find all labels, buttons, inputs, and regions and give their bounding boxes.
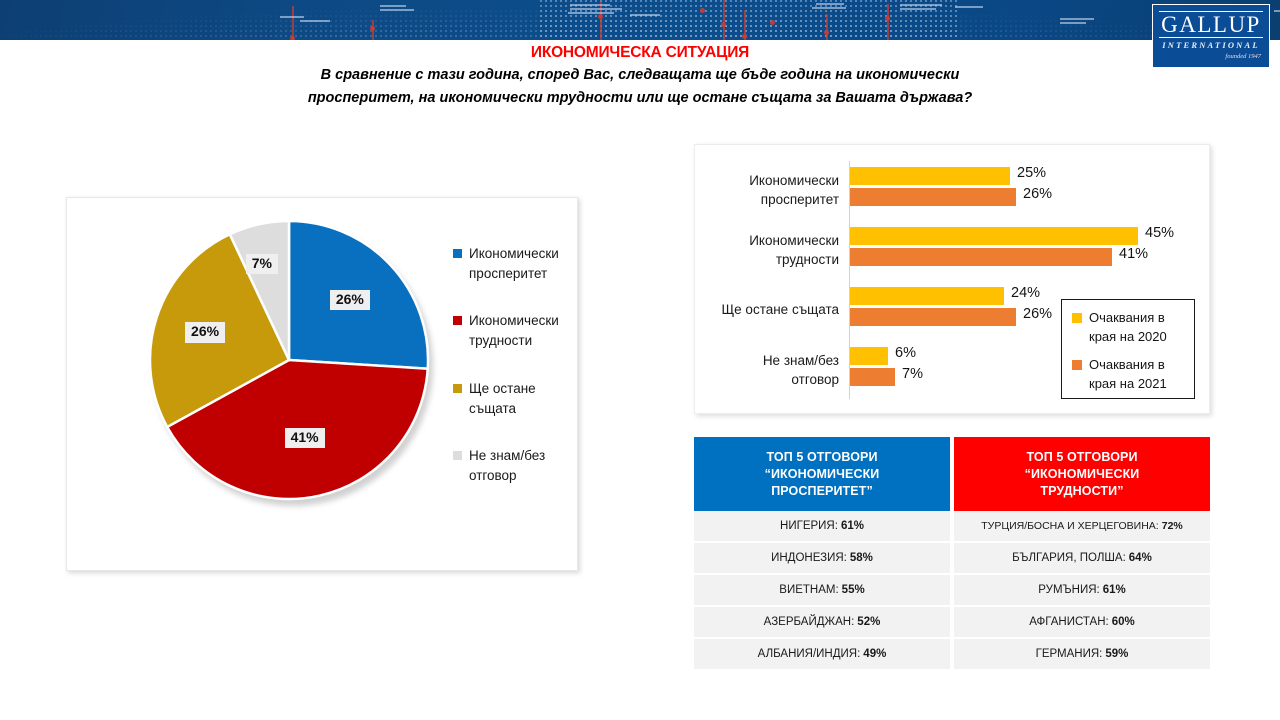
bar-rect-2021 bbox=[850, 188, 1016, 206]
page-subtitle-line2: просперитет, на икономически трудности и… bbox=[200, 87, 1080, 110]
country-name: АФГАНИСТАН: bbox=[1029, 616, 1108, 628]
bar-value-2021: 7% bbox=[902, 366, 923, 382]
bar-value-2021: 26% bbox=[1023, 306, 1052, 322]
pie-chart: 26% 41% 26% 7% bbox=[149, 220, 435, 506]
bar-group-prosperity: Икономически просперитет 25% 26% bbox=[695, 167, 1211, 217]
bar-row-2021-same: 26% bbox=[850, 308, 1016, 326]
bar-value-2020: 45% bbox=[1145, 225, 1174, 241]
bar-group-difficulties: Икономически трудности 45% 41% bbox=[695, 227, 1211, 277]
pie-svg bbox=[149, 220, 429, 500]
country-value: 72% bbox=[1162, 520, 1183, 532]
bar-legend-item-2021: Очаквания в края на 2021 bbox=[1072, 356, 1186, 394]
bar-value-2020: 25% bbox=[1017, 165, 1046, 181]
bar-value-2021: 26% bbox=[1023, 186, 1052, 202]
bar-category-line1: Не знам/без bbox=[699, 351, 839, 370]
table-row: ВИЕТНАМ:55% bbox=[694, 575, 950, 607]
bar-rect-2020 bbox=[850, 347, 888, 365]
legend-swatch-gold-icon bbox=[453, 384, 462, 393]
country-name: АЛБАНИЯ/ИНДИЯ: bbox=[758, 648, 861, 660]
legend-swatch-grey-icon bbox=[453, 451, 462, 460]
country-name: БЪЛГАРИЯ, ПОЛША: bbox=[1012, 552, 1126, 564]
top5-header-line3: ТРУДНОСТИ” bbox=[1040, 483, 1123, 500]
banner-network-lines bbox=[0, 0, 1280, 40]
bar-category-label-same: Ще остане същата bbox=[699, 300, 839, 319]
table-row: АФГАНИСТАН:60% bbox=[954, 607, 1210, 639]
pie-legend-label-dontknow: Не знам/без отговор bbox=[469, 446, 573, 485]
logo-wordmark: GALLUP bbox=[1159, 13, 1263, 36]
table-row: РУМЪНИЯ:61% bbox=[954, 575, 1210, 607]
table-row: ГЕРМАНИЯ:59% bbox=[954, 639, 1210, 671]
bar-row-2020-difficulties: 45% bbox=[850, 227, 1138, 245]
header-banner bbox=[0, 0, 1280, 40]
legend-swatch-red-icon bbox=[453, 316, 462, 325]
bar-category-label-prosperity: Икономически просперитет bbox=[699, 171, 839, 209]
bar-row-2020-prosperity: 25% bbox=[850, 167, 1010, 185]
page-subtitle: В сравнение с тази година, според Вас, с… bbox=[200, 64, 1080, 111]
top5-header-difficulties: ТОП 5 ОТГОВОРИ “ИКОНОМИЧЕСКИ ТРУДНОСТИ” bbox=[954, 437, 1210, 511]
country-value: 49% bbox=[863, 648, 886, 660]
bar-legend-label-2021: Очаквания в края на 2021 bbox=[1089, 356, 1186, 394]
pie-chart-panel: 26% 41% 26% 7% Икономически просперитет … bbox=[66, 197, 578, 571]
pie-slice-label-prosperity: 26% bbox=[330, 290, 370, 310]
pie-legend-label-same: Ще остане същата bbox=[469, 379, 573, 418]
bar-rect-2021 bbox=[850, 368, 895, 386]
country-value: 64% bbox=[1129, 552, 1152, 564]
country-name: РУМЪНИЯ: bbox=[1038, 584, 1099, 596]
legend-swatch-orange-icon bbox=[1072, 360, 1082, 370]
country-value: 59% bbox=[1105, 648, 1128, 660]
country-value: 61% bbox=[1103, 584, 1126, 596]
logo-rule-mid bbox=[1159, 37, 1263, 38]
table-row: АЗЕРБАЙДЖАН:52% bbox=[694, 607, 950, 639]
legend-swatch-yellow-icon bbox=[1072, 313, 1082, 323]
bar-legend-label-2020: Очаквания в края на 2020 bbox=[1089, 309, 1186, 347]
bar-chart-panel: Икономически просперитет 25% 26% Икономи… bbox=[694, 144, 1210, 414]
bar-value-2020: 6% bbox=[895, 345, 916, 361]
bar-row-2021-prosperity: 26% bbox=[850, 188, 1016, 206]
bar-value-2021: 41% bbox=[1119, 246, 1148, 262]
bar-legend-item-2020: Очаквания в края на 2020 bbox=[1072, 309, 1186, 347]
bar-row-2020-dontknow: 6% bbox=[850, 347, 888, 365]
country-name: ИНДОНЕЗИЯ: bbox=[771, 552, 847, 564]
top5-header-line2: “ИКОНОМИЧЕСКИ bbox=[765, 466, 880, 483]
bar-category-line2: отговор bbox=[699, 370, 839, 389]
country-value: 61% bbox=[841, 520, 864, 532]
page-subtitle-line1: В сравнение с тази година, според Вас, с… bbox=[200, 64, 1080, 87]
bar-category-line1: Ще остане същата bbox=[699, 300, 839, 319]
table-row: ТУРЦИЯ/БОСНА И ХЕРЦЕГОВИНА:72% bbox=[954, 511, 1210, 543]
bar-category-label-dontknow: Не знам/без отговор bbox=[699, 351, 839, 389]
pie-slice-label-dontknow: 7% bbox=[246, 254, 278, 274]
legend-swatch-blue-icon bbox=[453, 249, 462, 258]
bar-chart-legend: Очаквания в края на 2020 Очаквания в кра… bbox=[1061, 299, 1195, 399]
country-name: АЗЕРБАЙДЖАН: bbox=[764, 616, 855, 628]
pie-legend-item-prosperity: Икономически просперитет bbox=[453, 244, 573, 283]
pie-legend-item-same: Ще остане същата bbox=[453, 379, 573, 418]
table-row: НИГЕРИЯ:61% bbox=[694, 511, 950, 543]
country-name: ВИЕТНАМ: bbox=[779, 584, 838, 596]
top5-header-line1: ТОП 5 ОТГОВОРИ bbox=[1026, 449, 1137, 466]
country-name: НИГЕРИЯ: bbox=[780, 520, 838, 532]
table-row: БЪЛГАРИЯ, ПОЛША:64% bbox=[954, 543, 1210, 575]
pie-legend: Икономически просперитет Икономически тр… bbox=[453, 244, 573, 514]
top5-header-line3: ПРОСПЕРИТЕТ” bbox=[771, 483, 873, 500]
page-title: ИКОНОМИЧЕСКА СИТУАЦИЯ bbox=[0, 44, 1280, 62]
pie-slice-label-same: 26% bbox=[185, 322, 225, 342]
bar-value-2020: 24% bbox=[1011, 285, 1040, 301]
bar-category-line2: просперитет bbox=[699, 190, 839, 209]
bar-category-line1: Икономически bbox=[699, 231, 839, 250]
country-value: 55% bbox=[842, 584, 865, 596]
pie-slice-label-difficulties: 41% bbox=[285, 428, 325, 448]
table-row: ИНДОНЕЗИЯ:58% bbox=[694, 543, 950, 575]
bar-rect-2020 bbox=[850, 287, 1004, 305]
top5-tables: ТОП 5 ОТГОВОРИ “ИКОНОМИЧЕСКИ ПРОСПЕРИТЕТ… bbox=[694, 437, 1210, 671]
bar-row-2021-difficulties: 41% bbox=[850, 248, 1112, 266]
country-value: 52% bbox=[857, 616, 880, 628]
bar-row-2021-dontknow: 7% bbox=[850, 368, 895, 386]
top5-header-prosperity: ТОП 5 ОТГОВОРИ “ИКОНОМИЧЕСКИ ПРОСПЕРИТЕТ… bbox=[694, 437, 950, 511]
country-value: 60% bbox=[1112, 616, 1135, 628]
pie-legend-label-prosperity: Икономически просперитет bbox=[469, 244, 573, 283]
pie-legend-label-difficulties: Икономически трудности bbox=[469, 311, 573, 350]
country-name: ГЕРМАНИЯ: bbox=[1036, 648, 1103, 660]
top5-header-line1: ТОП 5 ОТГОВОРИ bbox=[766, 449, 877, 466]
bar-category-line2: трудности bbox=[699, 250, 839, 269]
bar-rect-2020 bbox=[850, 167, 1010, 185]
bar-rect-2021 bbox=[850, 308, 1016, 326]
bar-row-2020-same: 24% bbox=[850, 287, 1004, 305]
bar-category-line1: Икономически bbox=[699, 171, 839, 190]
country-name: ТУРЦИЯ/БОСНА И ХЕРЦЕГОВИНА: bbox=[981, 520, 1159, 532]
bar-rect-2020 bbox=[850, 227, 1138, 245]
table-row: АЛБАНИЯ/ИНДИЯ:49% bbox=[694, 639, 950, 671]
top5-header-line2: “ИКОНОМИЧЕСКИ bbox=[1025, 466, 1140, 483]
country-value: 58% bbox=[850, 552, 873, 564]
pie-legend-item-difficulties: Икономически трудности bbox=[453, 311, 573, 350]
bar-category-label-difficulties: Икономически трудности bbox=[699, 231, 839, 269]
slide-root: GALLUP INTERNATIONAL founded 1947 ИКОНОМ… bbox=[0, 0, 1280, 720]
pie-legend-item-dontknow: Не знам/без отговор bbox=[453, 446, 573, 485]
top5-table-prosperity: ТОП 5 ОТГОВОРИ “ИКОНОМИЧЕСКИ ПРОСПЕРИТЕТ… bbox=[694, 437, 950, 671]
bar-rect-2021 bbox=[850, 248, 1112, 266]
top5-table-difficulties: ТОП 5 ОТГОВОРИ “ИКОНОМИЧЕСКИ ТРУДНОСТИ” … bbox=[954, 437, 1210, 671]
